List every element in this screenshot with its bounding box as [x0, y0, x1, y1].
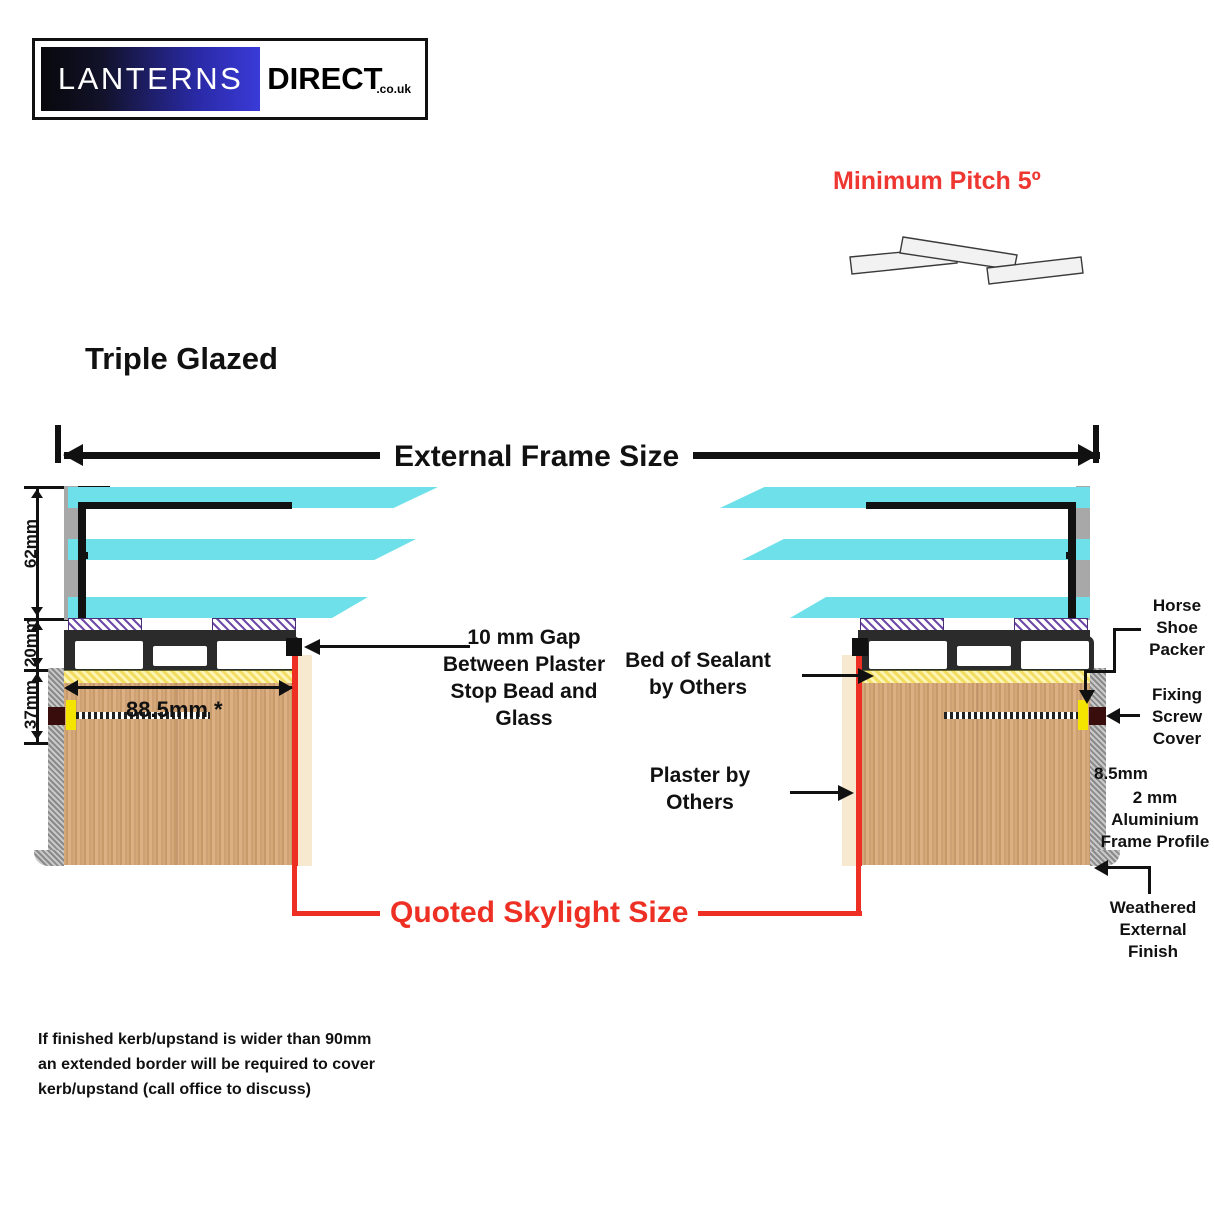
screw-leader-arrow	[1106, 708, 1120, 724]
brand-logo: LANTERNS DIRECT .co.uk	[32, 38, 428, 120]
alu-chamber-center-right	[952, 641, 1016, 671]
profile-thickness-label: 8.5mm	[1094, 763, 1164, 785]
quoted-size-edge-left	[292, 640, 298, 866]
glass-pane-inner-right	[790, 597, 1090, 618]
weather-leader-v	[1148, 866, 1151, 894]
glass-spacer-top-right	[866, 502, 1076, 509]
glass-spacer-mid-right	[1066, 552, 1076, 559]
callout-plaster-by-others: Plaster by Others	[600, 763, 800, 817]
dim-62mm-arrow-bottom	[31, 607, 43, 616]
dimension-arrow-right	[1078, 444, 1098, 466]
plaster-stop-bead-left	[286, 638, 302, 656]
dim-37mm-label: 37mm	[21, 680, 41, 729]
logo-word-lanterns: LANTERNS	[41, 47, 260, 111]
callout-packer-line-1: Horse	[1140, 595, 1214, 617]
plaster-leader-line	[790, 791, 842, 794]
callout-fixing-screw-cover: Fixing Screw Cover	[1140, 684, 1214, 750]
qss-bracket-right-vertical	[856, 866, 861, 916]
callout-packer-line-2: Shoe	[1140, 617, 1214, 639]
page-title: Triple Glazed	[85, 341, 278, 377]
packer-leader-h2	[1084, 670, 1116, 673]
external-frame-size-label: External Frame Size	[380, 440, 693, 474]
callout-screw-line-2: Screw	[1140, 706, 1214, 728]
packer-leader-arrow	[1079, 690, 1095, 704]
dim-62mm-arrow-top	[31, 489, 43, 498]
glass-spacer-vertical-left	[78, 502, 86, 618]
callout-plaster-line-1: Plaster by	[600, 763, 800, 790]
fixing-screw-cover-left	[48, 707, 65, 725]
callout-alu-line-1: 2 mm	[1096, 787, 1214, 809]
dim-37mm-arrow-bottom	[31, 731, 43, 740]
border-width-label: 88.5mm *	[126, 697, 223, 723]
callout-sealant-line-2: by Others	[598, 675, 798, 702]
glass-spacer-mid-left	[78, 552, 88, 559]
alu-chamber-outer-right	[1016, 636, 1094, 674]
alu-chamber-center-left	[148, 641, 212, 671]
fixing-screw-shaft-right	[944, 712, 1078, 719]
screw-leader-line	[1118, 714, 1140, 717]
glass-pane-middle-left	[68, 539, 416, 560]
callout-packer-line-3: Packer	[1140, 639, 1214, 661]
dimension-tick-left	[55, 425, 61, 463]
callout-weather-line-1: Weathered	[1092, 897, 1214, 919]
logo-tld: .co.uk	[376, 82, 411, 96]
weathered-external-finish-left	[48, 668, 64, 864]
border-width-arrow-left	[64, 680, 78, 696]
footer-line-1: If finished kerb/upstand is wider than 9…	[38, 1028, 468, 1053]
qss-bracket-left-vertical	[292, 866, 297, 916]
sealant-leader-arrow	[858, 668, 874, 684]
callout-screw-line-3: Cover	[1140, 728, 1214, 750]
footer-note: If finished kerb/upstand is wider than 9…	[38, 1028, 468, 1102]
fixing-screw-cover-right	[1089, 707, 1106, 725]
glass-pane-middle-right	[742, 539, 1090, 560]
weather-leader-h	[1106, 866, 1150, 869]
border-width-dim-line	[70, 686, 292, 689]
callout-bed-of-sealant: Bed of Sealant by Others	[598, 648, 798, 702]
dim-20mm-label: 20mm	[21, 618, 41, 667]
weathered-external-finish-left-foot	[34, 850, 64, 866]
weather-leader-arrow	[1094, 860, 1108, 876]
sealant-leader-line	[802, 674, 862, 677]
logo-word-direct: DIRECT	[260, 47, 382, 111]
kerb-joint-line-right	[976, 683, 978, 865]
plaster-by-others-left	[296, 655, 312, 866]
packer-leader-h1	[1113, 628, 1141, 631]
callout-sealant-line-1: Bed of Sealant	[598, 648, 798, 675]
alu-chamber-outer-left	[70, 636, 148, 674]
dimension-arrow-left	[63, 444, 83, 466]
callout-plaster-line-2: Others	[600, 790, 800, 817]
packer-leader-v	[1113, 628, 1116, 672]
packer-leader-v2	[1084, 670, 1087, 694]
horse-shoe-packer-right	[1078, 700, 1088, 730]
horse-shoe-packer-left	[66, 700, 76, 730]
quoted-skylight-size-label: Quoted Skylight Size	[380, 896, 698, 930]
footer-line-3: kerb/upstand (call office to discuss)	[38, 1078, 468, 1103]
callout-screw-line-1: Fixing	[1140, 684, 1214, 706]
plaster-stop-bead-right	[852, 638, 868, 656]
minimum-pitch-title: Minimum Pitch 5º	[833, 167, 1041, 196]
alu-chamber-inner-right	[864, 636, 952, 674]
footer-line-2: an extended border will be required to c…	[38, 1053, 468, 1078]
callout-horse-shoe-packer: Horse Shoe Packer	[1140, 595, 1214, 661]
dim-62mm-label: 62mm	[21, 519, 41, 568]
glass-spacer-top-left	[78, 502, 292, 509]
callout-weather-line-3: Finish	[1092, 941, 1214, 963]
plaster-leader-arrow	[838, 785, 854, 801]
glass-spacer-vertical-right	[1068, 502, 1076, 618]
callout-weathered-finish: Weathered External Finish	[1092, 897, 1214, 963]
callout-alu-line-2: Aluminium	[1096, 809, 1214, 831]
border-width-arrow-right	[279, 680, 293, 696]
pitch-bars-sketch	[845, 225, 1085, 300]
glass-pane-inner-left	[68, 597, 368, 618]
gap-leader-arrow	[304, 639, 320, 655]
callout-alu-line-3: Frame Profile	[1096, 831, 1214, 853]
callout-aluminium-profile: 2 mm Aluminium Frame Profile	[1096, 787, 1214, 853]
callout-weather-line-2: External	[1092, 919, 1214, 941]
callout-gap-line-4: Glass	[364, 706, 684, 733]
